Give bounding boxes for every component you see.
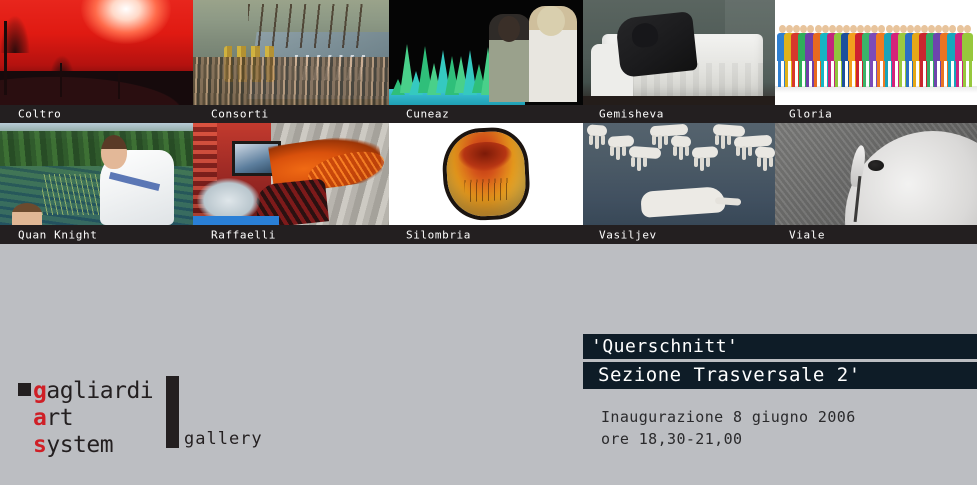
logo-text-ystem: ystem <box>46 432 113 458</box>
sun-glow <box>81 0 171 44</box>
tree-trunk <box>118 73 120 99</box>
floor-strip <box>583 96 775 105</box>
artwork-thumb-consorti[interactable] <box>193 0 389 105</box>
exhibition-title-block: 'Querschnitt' Sezione Trasversale 2' <box>583 334 977 389</box>
artwork-image-quan-knight <box>0 123 193 225</box>
figure-head <box>101 135 127 169</box>
artist-label-silombria: Silombria <box>406 228 471 241</box>
artwork-image-consorti <box>193 0 389 105</box>
artwork-image-raffaelli <box>193 123 389 225</box>
logo-text-rt: rt <box>46 405 73 431</box>
gagliardi-art-system-logo[interactable]: gagliardi art system gallery <box>18 376 258 454</box>
artist-label-coltro: Coltro <box>18 108 61 121</box>
artwork-thumb-cuneaz[interactable] <box>389 0 583 105</box>
exhibition-title-line-1: 'Querschnitt' <box>583 334 977 359</box>
artwork-thumb-coltro[interactable] <box>0 0 193 105</box>
artwork-thumb-quan-knight[interactable] <box>0 123 193 225</box>
artist-label-cuneaz: Cuneaz <box>406 108 449 121</box>
logo-accent-g: g <box>33 378 46 404</box>
logo-line-3: system <box>33 434 113 457</box>
artwork-row-2 <box>0 123 977 225</box>
artwork-image-coltro <box>0 0 193 105</box>
artist-label-bar-1: Coltro Consorti Cuneaz Gemisheva Gloria <box>0 105 977 123</box>
woman-figure <box>489 14 531 102</box>
artwork-image-vasiljev <box>583 123 775 225</box>
tree-canopy <box>50 55 74 77</box>
logo-accent-a: a <box>33 405 46 431</box>
exhibition-opening-info: Inaugurazione 8 giugno 2006 ore 18,30-21… <box>601 406 856 450</box>
fallen-dog-figure <box>640 186 726 218</box>
horizon-hill <box>0 71 193 105</box>
submerged-head <box>12 203 42 225</box>
tree-trunk <box>4 21 7 95</box>
artist-label-gloria: Gloria <box>789 108 832 121</box>
artwork-image-gloria <box>775 0 977 105</box>
artwork-thumb-raffaelli[interactable] <box>193 123 389 225</box>
ground-shadow <box>775 86 977 93</box>
reeds <box>42 174 108 215</box>
artist-label-raffaelli: Raffaelli <box>211 228 276 241</box>
artist-label-vasiljev: Vasiljev <box>599 228 657 241</box>
logo-square-icon <box>18 383 31 396</box>
reclining-man <box>615 11 698 78</box>
crowd-figures <box>193 57 389 105</box>
logo-vertical-bar-icon <box>166 376 179 448</box>
exhibition-title-line-2: Sezione Trasversale 2' <box>583 362 977 389</box>
artwork-thumb-gemisheva[interactable] <box>583 0 775 105</box>
artist-label-gemisheva: Gemisheva <box>599 108 664 121</box>
poster-canvas: Coltro Consorti Cuneaz Gemisheva Gloria <box>0 0 977 485</box>
artwork-image-viale <box>775 123 977 225</box>
artwork-image-cuneaz <box>389 0 583 105</box>
logo-line-1: gagliardi <box>33 380 153 403</box>
artist-label-bar-2: Quan Knight Raffaelli Silombria Vasiljev… <box>0 225 977 244</box>
crumpled-object <box>445 130 527 218</box>
logo-line-2: art <box>33 407 73 430</box>
blue-floor-strip <box>193 216 279 225</box>
logo-accent-s: s <box>33 432 46 458</box>
artwork-thumb-silombria[interactable] <box>389 123 583 225</box>
logo-text-agliardi: agliardi <box>46 378 153 404</box>
artwork-image-silombria <box>389 123 583 225</box>
artwork-thumb-vasiljev[interactable] <box>583 123 775 225</box>
artwork-row-1 <box>0 0 977 105</box>
fly-insect <box>868 160 884 171</box>
artist-label-quan-knight: Quan Knight <box>18 228 97 241</box>
artwork-thumb-viale[interactable] <box>775 123 977 225</box>
artist-label-consorti: Consorti <box>211 108 269 121</box>
artwork-thumb-gloria[interactable] <box>775 0 977 105</box>
artist-label-viale: Viale <box>789 228 825 241</box>
walking-crowd <box>777 25 975 87</box>
artwork-grid: Coltro Consorti Cuneaz Gemisheva Gloria <box>0 0 977 244</box>
pole-forest <box>248 4 366 48</box>
logo-gallery-label: gallery <box>184 429 263 449</box>
woman-figure <box>529 6 577 102</box>
artwork-image-gemisheva <box>583 0 775 105</box>
tree-trunk <box>60 63 62 97</box>
